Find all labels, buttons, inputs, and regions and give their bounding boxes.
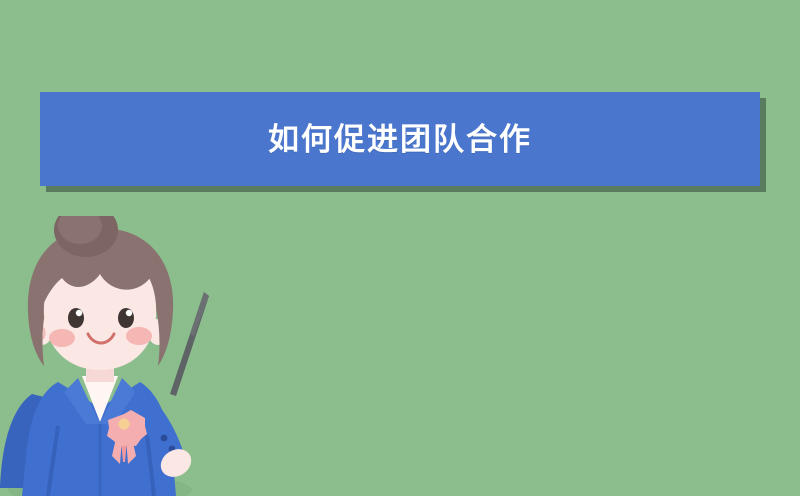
left-eye xyxy=(68,308,84,328)
left-eye-highlight xyxy=(76,310,82,316)
teacher-illustration xyxy=(0,216,260,496)
pointer-stick-icon xyxy=(170,292,209,396)
left-cheek xyxy=(49,329,75,347)
cuff-button xyxy=(161,435,168,442)
title-banner: 如何促进团队合作 xyxy=(40,92,760,186)
slide-canvas: 如何促进团队合作 xyxy=(0,0,800,496)
right-cheek xyxy=(126,327,152,345)
page-title: 如何促进团队合作 xyxy=(268,124,532,155)
right-eye xyxy=(118,308,134,328)
right-eye-highlight xyxy=(126,310,132,316)
